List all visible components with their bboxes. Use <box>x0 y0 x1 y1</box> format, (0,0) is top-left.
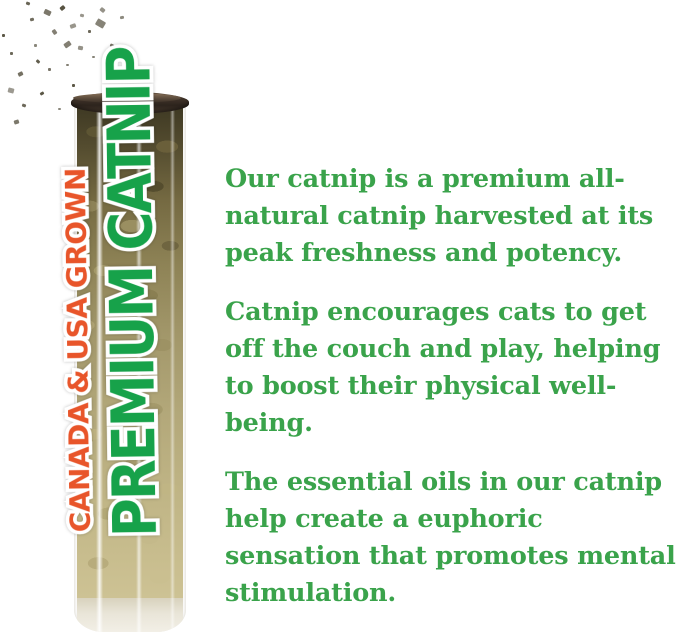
catnip-flake <box>22 103 27 107</box>
catnip-flake <box>43 9 51 16</box>
catnip-flake <box>10 52 13 55</box>
catnip-flake <box>48 68 51 71</box>
catnip-flake <box>69 23 76 29</box>
catnip-flake <box>63 40 72 48</box>
catnip-flake <box>36 59 41 64</box>
tube-empty-headspace <box>77 598 183 632</box>
catnip-flake <box>7 87 14 93</box>
catnip-flake <box>120 16 124 20</box>
catnip-flake <box>66 64 69 66</box>
catnip-flake <box>40 91 45 96</box>
catnip-tube: CANADA & USA GROWN PREMIUM CATNIP <box>74 92 186 632</box>
product-label: CANADA & USA GROWN PREMIUM CATNIP <box>55 186 208 538</box>
catnip-flake <box>17 71 23 77</box>
catnip-flake <box>34 44 37 47</box>
catnip-flake <box>95 18 106 29</box>
catnip-flake <box>59 5 65 11</box>
catnip-flake <box>72 84 75 87</box>
copy-paragraph-2: Catnip encourages cats to get off the co… <box>225 294 677 442</box>
catnip-flake <box>26 1 31 5</box>
catnip-flake <box>80 14 85 18</box>
catnip-flake <box>51 29 57 35</box>
label-product-name: PREMIUM CATNIP <box>95 47 170 537</box>
catnip-flake <box>88 30 91 33</box>
catnip-flake <box>99 7 105 13</box>
label-origin-text: CANADA & USA GROWN <box>59 168 97 533</box>
catnip-flake <box>30 18 35 22</box>
copy-paragraph-1: Our catnip is a premium all-natural catn… <box>225 161 677 272</box>
marketing-copy: Our catnip is a premium all-natural catn… <box>225 161 677 612</box>
copy-paragraph-3: The essential oils in our catnip help cr… <box>225 464 677 612</box>
catnip-flake <box>58 108 61 110</box>
catnip-flake <box>78 46 84 51</box>
catnip-flake <box>14 119 20 124</box>
catnip-flake <box>2 34 5 37</box>
